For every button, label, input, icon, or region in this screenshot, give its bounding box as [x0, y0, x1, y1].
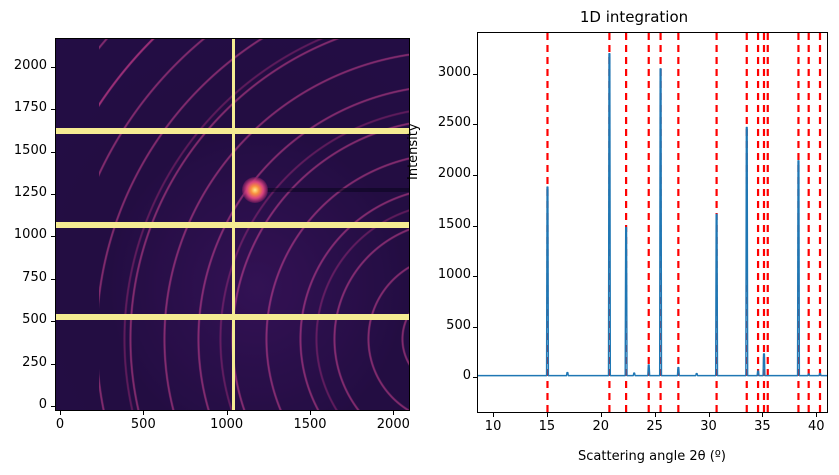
angle-x-tick — [547, 413, 548, 417]
intensity-y-tick — [473, 124, 477, 125]
detector-y-tick-label: 0 — [39, 397, 47, 412]
detector-x-tick — [227, 411, 228, 415]
angle-x-tick-label: 25 — [646, 419, 663, 434]
intensity-y-tick-label: 2500 — [430, 115, 471, 130]
detector-x-tick — [60, 411, 61, 415]
detector-x-tick — [393, 411, 394, 415]
intensity-y-tick — [473, 175, 477, 176]
beam-shadow-line — [267, 188, 410, 192]
detector-x-tick-label: 0 — [56, 417, 64, 432]
angle-x-tick — [816, 413, 817, 417]
detector-y-tick-label: 250 — [22, 355, 47, 370]
detector-x-tick — [310, 411, 311, 415]
detector-y-tick — [51, 321, 55, 322]
detector-gap-mask-col — [232, 39, 235, 410]
detector-axes — [55, 38, 410, 411]
intensity-y-tick — [473, 74, 477, 75]
integration-axes — [477, 32, 828, 413]
angle-x-tick-label: 20 — [593, 419, 610, 434]
detector-y-tick — [51, 279, 55, 280]
angle-x-tick-label: 10 — [485, 419, 502, 434]
y-axis-title: Intensity — [406, 123, 421, 180]
intensity-y-tick-label: 2000 — [430, 166, 471, 181]
angle-x-tick — [762, 413, 763, 417]
intensity-y-tick — [473, 327, 477, 328]
beam-center-spot — [242, 177, 268, 203]
intensity-y-tick — [473, 226, 477, 227]
detector-x-tick-label: 1500 — [293, 417, 326, 432]
x-axis-title-text: Scattering angle 2θ (º) — [578, 449, 726, 464]
angle-x-tick — [655, 413, 656, 417]
detector-image-panel: 025050075010001250150017502000 050010001… — [0, 0, 430, 475]
detector-y-tick — [51, 152, 55, 153]
angle-x-tick-label: 35 — [754, 419, 771, 434]
angle-x-tick-label: 30 — [700, 419, 717, 434]
detector-y-tick — [51, 109, 55, 110]
intensity-y-tick-label: 3000 — [430, 65, 471, 80]
detector-y-tick-label: 1500 — [14, 143, 47, 158]
detector-y-tick — [51, 236, 55, 237]
integration-plot-panel: 1D integration Intensity Scattering angl… — [430, 0, 839, 475]
detector-y-tick — [51, 406, 55, 407]
intensity-y-tick-label: 0 — [430, 368, 471, 383]
intensity-curve — [478, 54, 827, 376]
angle-x-tick-label: 40 — [808, 419, 825, 434]
detector-y-tick-label: 2000 — [14, 58, 47, 73]
angle-x-tick — [601, 413, 602, 417]
intensity-y-tick — [473, 377, 477, 378]
x-axis-title: Scattering angle 2θ (º) — [578, 449, 726, 464]
detector-y-tick — [51, 194, 55, 195]
angle-x-tick — [709, 413, 710, 417]
reference-line-group — [547, 33, 820, 412]
integration-plot-svg — [478, 33, 827, 412]
intensity-y-tick — [473, 276, 477, 277]
detector-y-tick-label: 1000 — [14, 227, 47, 242]
intensity-y-tick-label: 1000 — [430, 267, 471, 282]
plot-title: 1D integration — [580, 8, 688, 26]
detector-y-tick — [51, 67, 55, 68]
matplotlib-figure: 025050075010001250150017502000 050010001… — [0, 0, 839, 475]
detector-x-tick-label: 2000 — [377, 417, 410, 432]
detector-y-tick — [51, 364, 55, 365]
angle-x-tick-label: 15 — [539, 419, 556, 434]
detector-x-tick-label: 500 — [131, 417, 156, 432]
detector-x-tick-label: 1000 — [210, 417, 243, 432]
intensity-y-tick-label: 500 — [430, 318, 471, 333]
detector-x-tick — [143, 411, 144, 415]
angle-x-tick — [493, 413, 494, 417]
detector-y-tick-label: 750 — [22, 270, 47, 285]
detector-y-tick-label: 1750 — [14, 100, 47, 115]
detector-y-tick-label: 1250 — [14, 185, 47, 200]
intensity-y-tick-label: 1500 — [430, 217, 471, 232]
detector-y-tick-label: 500 — [22, 312, 47, 327]
